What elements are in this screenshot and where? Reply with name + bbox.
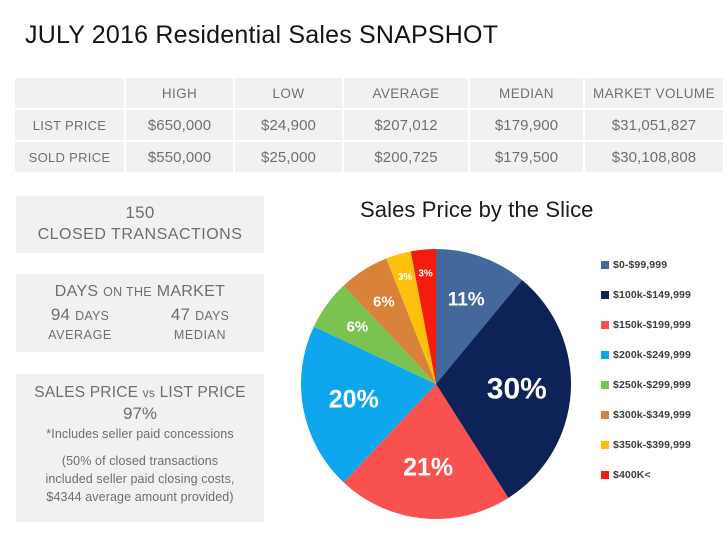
splp-detail-line-3: $4344 average amount provided) <box>16 488 264 506</box>
cell-sold-price-high: $550,000 <box>126 142 233 172</box>
pie-slice-label: 11% <box>448 290 485 311</box>
days-on-market-title: DAYS ON THE MARKET <box>16 281 264 303</box>
legend-color-swatch <box>601 411 609 419</box>
sales-vs-list-note: *Includes seller paid concessions <box>16 425 264 443</box>
pie-slice-label: 3% <box>418 268 433 279</box>
table-row: SOLD PRICE $550,000 $25,000 $200,725 $17… <box>15 142 723 172</box>
legend-item[interactable]: $350k-$399,999 <box>601 430 725 460</box>
legend-item-label: $300k-$349,999 <box>613 409 691 421</box>
sales-vs-list-price-panel: SALES PRICE vs LIST PRICE 97% *Includes … <box>16 374 264 522</box>
sales-stats-table: HIGH LOW AVERAGE MEDIAN MARKET VOLUME LI… <box>13 76 725 174</box>
closed-transactions-panel: 150 CLOSED TRANSACTIONS <box>16 196 264 253</box>
dom-average-value: 94 <box>51 305 70 324</box>
sales-vs-list-percent: 97% <box>16 403 264 425</box>
splp-detail-line-1: (50% of closed transactions <box>16 452 264 470</box>
splp-title-vs: vs <box>143 386 155 400</box>
legend-item-label: $0-$99,999 <box>613 259 667 271</box>
legend-color-swatch <box>601 471 609 479</box>
legend-item-label: $150k-$199,999 <box>613 319 691 331</box>
table-header-high: HIGH <box>126 78 233 108</box>
dom-median-number-row: 47 DAYS <box>148 304 252 327</box>
pie-slice-label: 3% <box>398 272 413 283</box>
legend-item-label: $250k-$299,999 <box>613 379 691 391</box>
cell-sold-price-low: $25,000 <box>235 142 342 172</box>
legend-color-swatch <box>601 351 609 359</box>
days-on-market-average: 94 DAYS AVERAGE <box>28 304 132 344</box>
days-on-market-values: 94 DAYS AVERAGE 47 DAYS MEDIAN <box>16 304 264 344</box>
legend-color-swatch <box>601 261 609 269</box>
table-row: LIST PRICE $650,000 $24,900 $207,012 $17… <box>15 110 723 140</box>
pie-slice-label: 6% <box>347 318 369 335</box>
legend-item[interactable]: $0-$99,999 <box>601 250 725 280</box>
legend-item[interactable]: $250k-$299,999 <box>601 370 725 400</box>
cell-list-price-market-volume: $31,051,827 <box>585 110 723 140</box>
legend-item[interactable]: $100k-$149,999 <box>601 280 725 310</box>
days-on-market-median: 47 DAYS MEDIAN <box>148 304 252 344</box>
legend-item[interactable]: $400K< <box>601 460 725 490</box>
legend-color-swatch <box>601 321 609 329</box>
pie-chart-legend: $0-$99,999$100k-$149,999$150k-$199,999$2… <box>601 250 725 490</box>
dom-median-unit: DAYS <box>195 309 229 323</box>
legend-item[interactable]: $200k-$249,999 <box>601 340 725 370</box>
chart-title: Sales Price by the Slice <box>360 197 594 223</box>
splp-title-list-price: LIST PRICE <box>160 384 246 401</box>
cell-list-price-high: $650,000 <box>126 110 233 140</box>
cell-list-price-low: $24,900 <box>235 110 342 140</box>
cell-list-price-median: $179,900 <box>470 110 583 140</box>
cell-sold-price-market-volume: $30,108,808 <box>585 142 723 172</box>
pie-slice-label: 6% <box>373 293 395 310</box>
closed-transactions-label: CLOSED TRANSACTIONS <box>16 224 264 245</box>
legend-item-label: $100k-$149,999 <box>613 289 691 301</box>
dom-average-unit: DAYS <box>75 309 109 323</box>
cell-sold-price-average: $200,725 <box>344 142 468 172</box>
table-header-median: MEDIAN <box>470 78 583 108</box>
row-label-sold-price: SOLD PRICE <box>15 142 124 172</box>
pie-slice-label: 30% <box>487 373 547 406</box>
splp-detail-line-2: included seller paid closing costs, <box>16 470 264 488</box>
table-header-corner <box>15 78 124 108</box>
table-header-row: HIGH LOW AVERAGE MEDIAN MARKET VOLUME <box>15 78 723 108</box>
cell-list-price-average: $207,012 <box>344 110 468 140</box>
page-title: JULY 2016 Residential Sales SNAPSHOT <box>25 21 498 50</box>
days-on-market-panel: DAYS ON THE MARKET 94 DAYS AVERAGE 47 DA… <box>16 274 264 352</box>
legend-item-label: $200k-$249,999 <box>613 349 691 361</box>
legend-item[interactable]: $150k-$199,999 <box>601 310 725 340</box>
splp-title-sales-price: SALES PRICE <box>34 384 138 401</box>
table-header-market-volume: MARKET VOLUME <box>585 78 723 108</box>
closed-transactions-count: 150 <box>16 202 264 224</box>
legend-color-swatch <box>601 381 609 389</box>
legend-color-swatch <box>601 291 609 299</box>
table-header-average: AVERAGE <box>344 78 468 108</box>
legend-item-label: $350k-$399,999 <box>613 439 691 451</box>
pie-slice-label: 20% <box>329 386 379 414</box>
pie-chart-svg: 11%30%21%20%6%6%3%3% <box>300 248 572 520</box>
dom-average-number-row: 94 DAYS <box>28 304 132 327</box>
pie-slice-label: 21% <box>403 453 453 481</box>
legend-color-swatch <box>601 441 609 449</box>
dom-title-days: DAYS <box>55 283 99 300</box>
dom-title-on-the: ON THE <box>103 285 152 299</box>
dom-average-label: AVERAGE <box>28 327 132 344</box>
dom-title-market: MARKET <box>157 283 225 300</box>
sales-vs-list-detail: (50% of closed transactions included sel… <box>16 452 264 506</box>
legend-item-label: $400K< <box>613 469 651 481</box>
sales-price-pie-chart: 11%30%21%20%6%6%3%3% <box>300 248 572 520</box>
cell-sold-price-median: $179,500 <box>470 142 583 172</box>
row-label-list-price: LIST PRICE <box>15 110 124 140</box>
dom-median-value: 47 <box>171 305 190 324</box>
dom-median-label: MEDIAN <box>148 327 252 344</box>
legend-item[interactable]: $300k-$349,999 <box>601 400 725 430</box>
table-header-low: LOW <box>235 78 342 108</box>
sales-vs-list-title: SALES PRICE vs LIST PRICE <box>16 383 264 403</box>
